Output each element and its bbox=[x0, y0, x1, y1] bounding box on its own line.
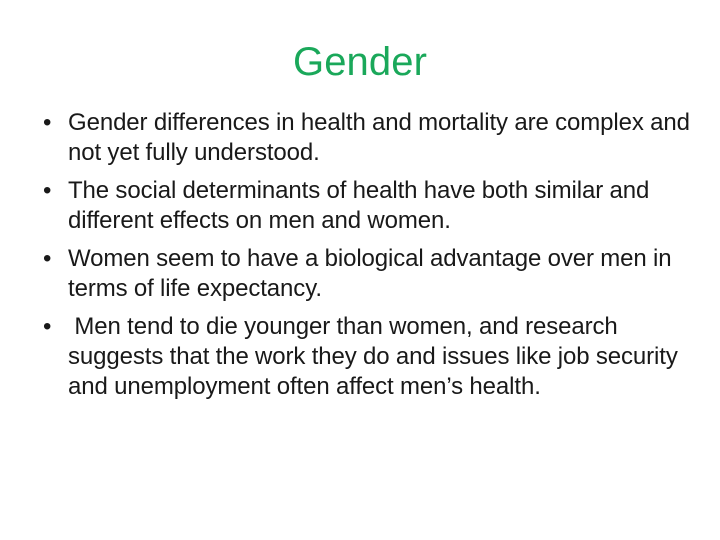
list-item: • Men tend to die younger than women, an… bbox=[36, 312, 696, 402]
list-item: • The social determinants of health have… bbox=[36, 176, 696, 236]
page-title: Gender bbox=[0, 38, 720, 86]
list-item-text: Gender differences in health and mortali… bbox=[68, 108, 696, 168]
list-item-text: The social determinants of health have b… bbox=[68, 176, 696, 236]
bullet-dot-icon: • bbox=[43, 108, 57, 138]
bullet-dot-icon: • bbox=[43, 176, 57, 206]
bullet-dot-icon: • bbox=[43, 312, 57, 342]
slide-canvas: Gender • Gender differences in health an… bbox=[0, 0, 720, 540]
list-item-text: Women seem to have a biological advantag… bbox=[68, 244, 696, 304]
list-item-text: Men tend to die younger than women, and … bbox=[68, 312, 696, 402]
list-item: • Women seem to have a biological advant… bbox=[36, 244, 696, 304]
bullet-dot-icon: • bbox=[43, 244, 57, 274]
list-item: • Gender differences in health and morta… bbox=[36, 108, 696, 168]
bullet-list: • Gender differences in health and morta… bbox=[36, 108, 696, 402]
